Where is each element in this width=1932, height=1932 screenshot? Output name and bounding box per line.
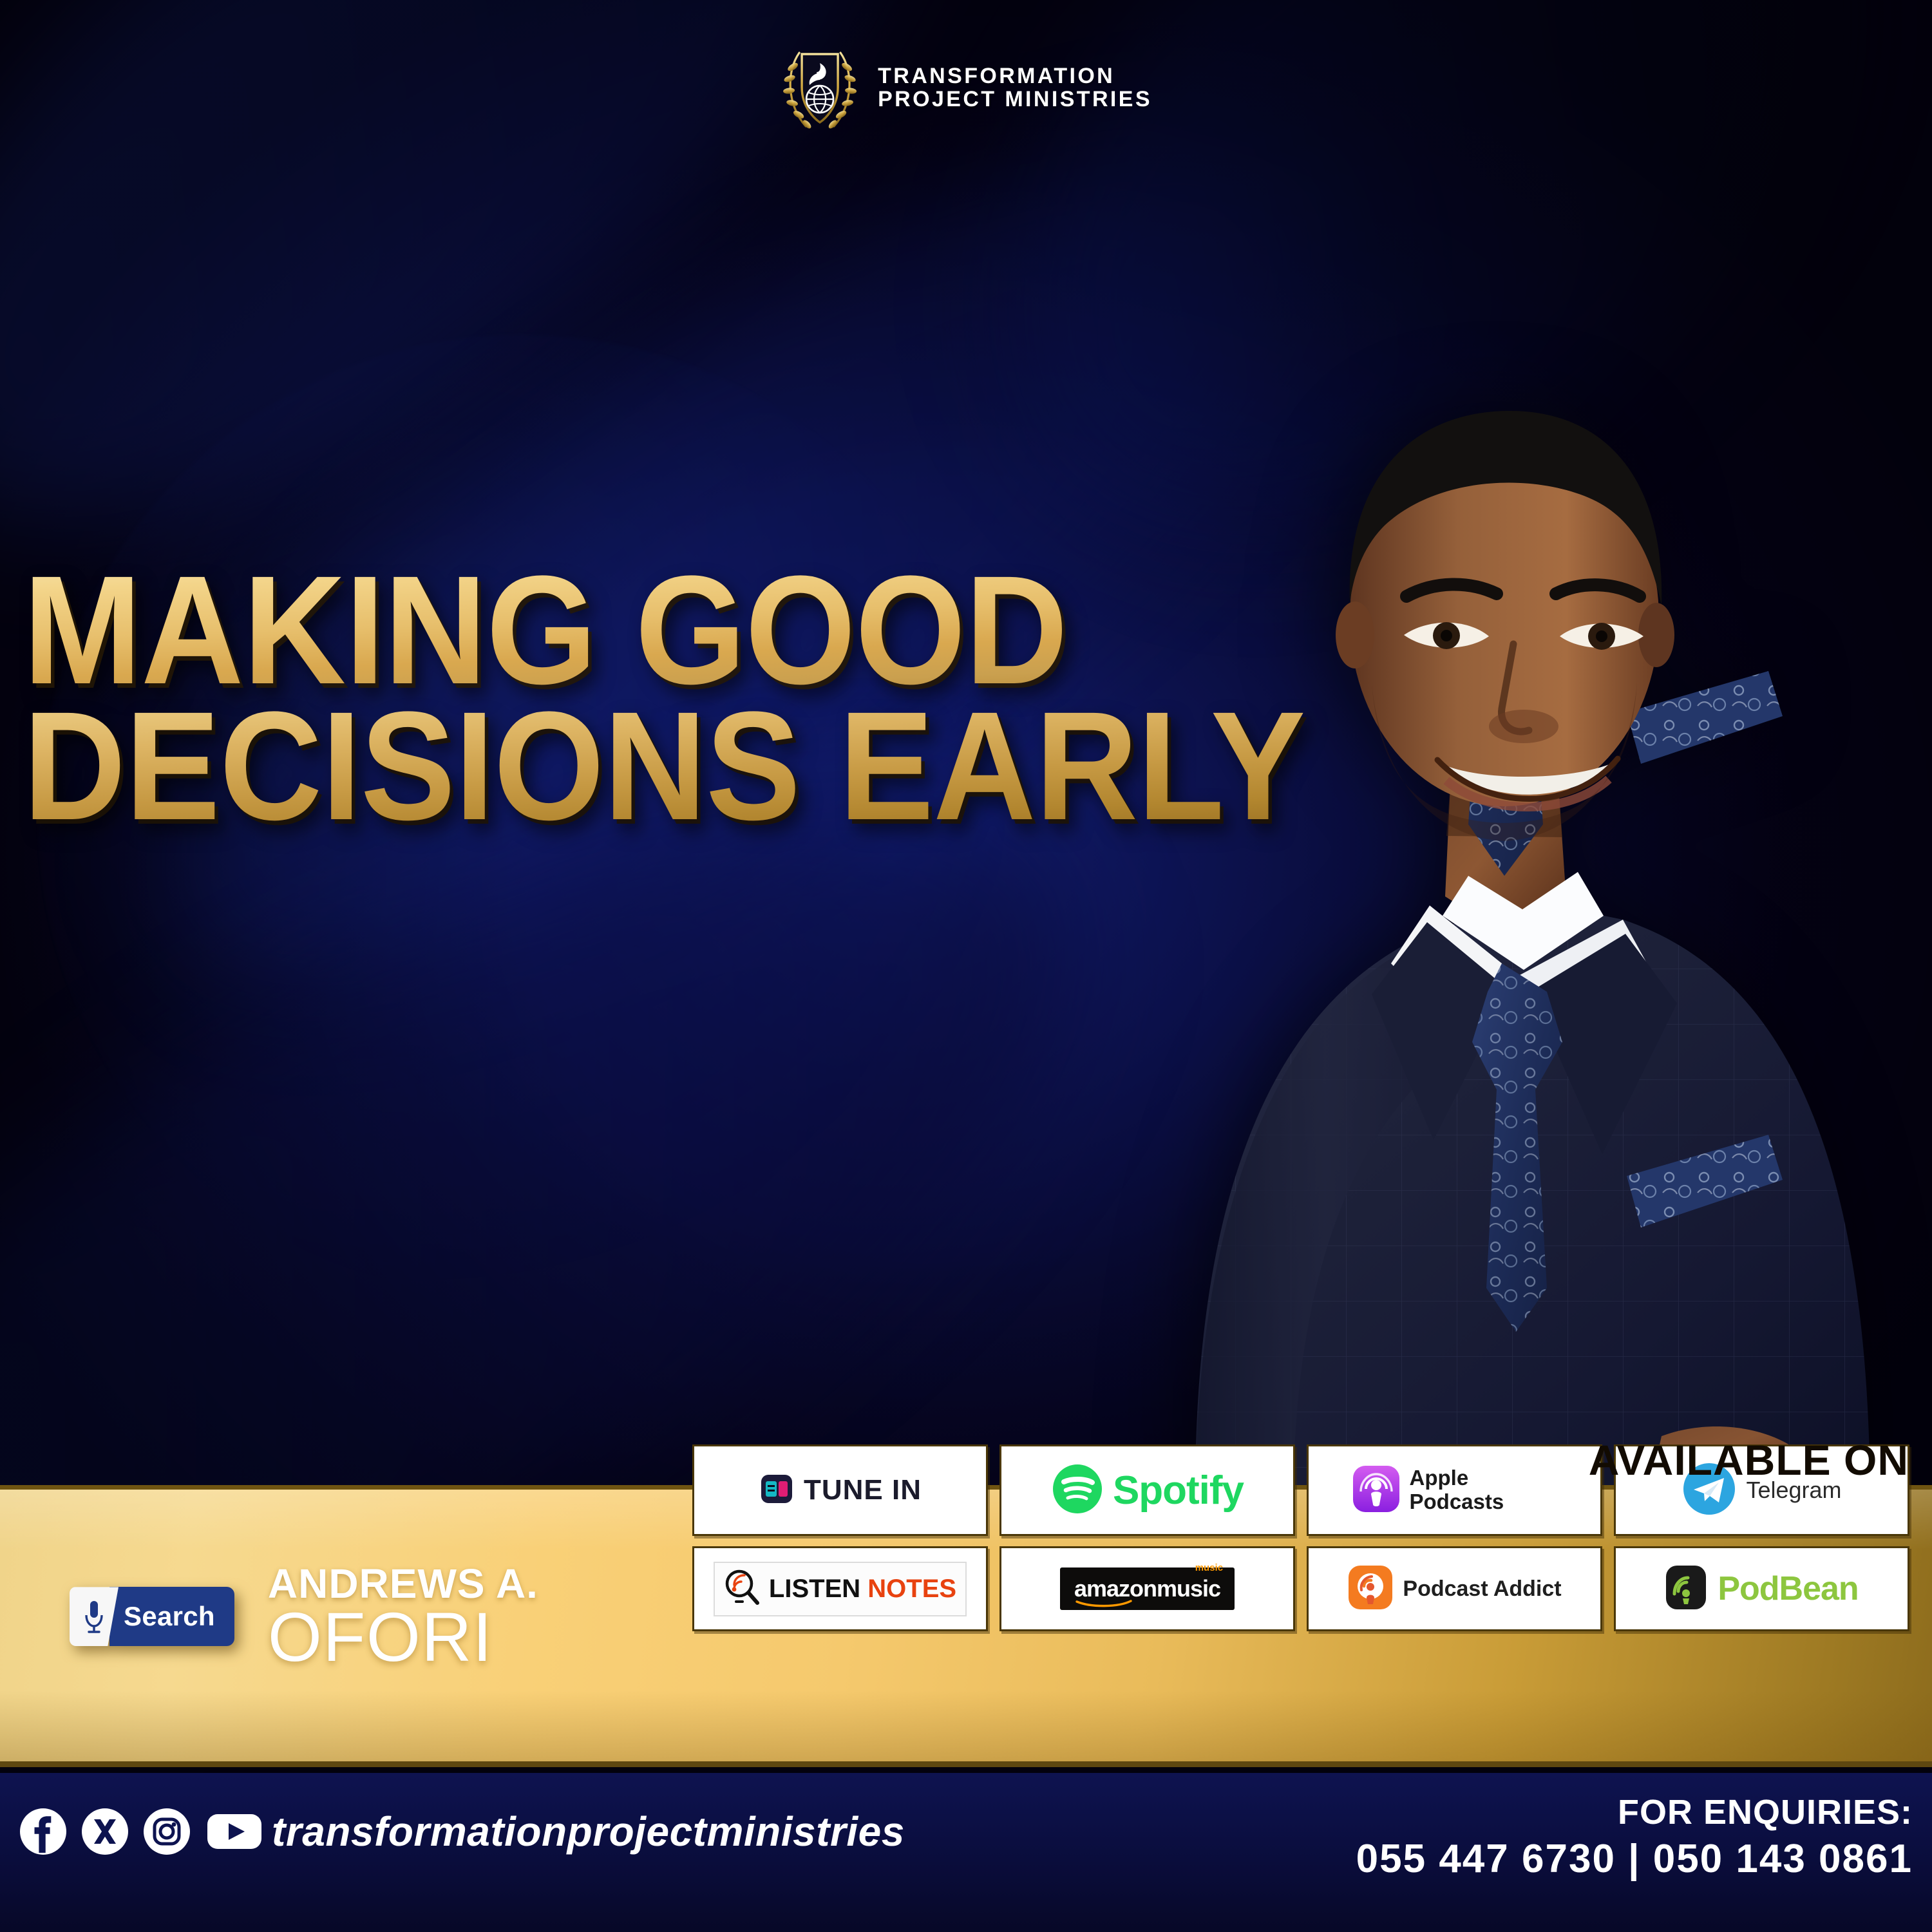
x-twitter-icon[interactable] — [80, 1806, 130, 1857]
platform-tile-podbean[interactable]: PodBean — [1614, 1546, 1909, 1631]
podcast-addict-icon — [1347, 1564, 1394, 1614]
footer-bar: transformationprojectministries FOR ENQU… — [0, 1773, 1932, 1932]
platform-tile-podcast-addict[interactable]: Podcast Addict — [1307, 1546, 1602, 1631]
instagram-icon[interactable] — [142, 1806, 192, 1857]
podcast-promo-poster: TRANSFORMATION PROJECT MINISTRIES MAKING… — [0, 0, 1932, 1932]
brand-line-2: PROJECT MINISTRIES — [878, 88, 1152, 111]
platform-label: Apple Podcasts — [1410, 1466, 1558, 1514]
enquiries-numbers: 055 447 6730 | 050 143 0861 — [1356, 1836, 1913, 1882]
tunein-icon — [759, 1471, 795, 1510]
title-line-1: MAKING GOOD — [23, 567, 1305, 694]
youtube-icon[interactable] — [204, 1806, 254, 1857]
brand-line-1: TRANSFORMATION — [878, 64, 1152, 88]
platforms-panel: Search ANDREWS A. OFORI AVAILABLE ON — [0, 1485, 1932, 1767]
speaker-first-name: ANDREWS A. — [268, 1566, 538, 1603]
platform-tile-amazon-music[interactable]: music amazonmusic amazon music — [999, 1546, 1295, 1631]
platform-label: Spotify — [1113, 1468, 1244, 1513]
search-badge[interactable]: Search — [70, 1587, 234, 1646]
platform-tile-spotify[interactable]: Spotify — [999, 1444, 1295, 1536]
available-on-heading: AVAILABLE ON — [1589, 1435, 1909, 1484]
speaker-name: ANDREWS A. OFORI — [268, 1566, 538, 1668]
enquiries-label: FOR ENQUIRIES: — [1356, 1792, 1913, 1832]
platform-tile-tunein[interactable]: TUNE IN — [692, 1444, 988, 1536]
shield-laurel-dove-globe-crest-icon — [780, 40, 860, 135]
platform-label: Podcast Addict — [1403, 1577, 1561, 1602]
platform-tile-listen-notes[interactable]: LISTEN NOTES LISTEN NOTES — [692, 1546, 988, 1631]
title-line-2: DECISIONS EARLY — [23, 703, 1305, 829]
search-badge-label: Search — [109, 1587, 234, 1646]
spotify-icon — [1051, 1463, 1104, 1519]
footer-social-group: transformationprojectministries — [18, 1806, 905, 1857]
podbean-icon — [1665, 1564, 1709, 1614]
enquiries-block: FOR ENQUIRIES: 055 447 6730 | 050 143 08… — [1356, 1792, 1913, 1882]
brand-logo: TRANSFORMATION PROJECT MINISTRIES — [780, 40, 1152, 135]
apple-podcasts-icon — [1352, 1464, 1401, 1517]
facebook-icon[interactable] — [18, 1806, 68, 1857]
page-title: MAKING GOOD DECISIONS EARLY — [23, 567, 1416, 829]
social-handle: transformationprojectministries — [272, 1808, 905, 1855]
platform-label: PodBean — [1718, 1569, 1858, 1608]
platform-label: TUNE IN — [804, 1474, 922, 1506]
listen-notes-icon — [724, 1568, 760, 1610]
platform-tile-apple-podcasts[interactable]: Apple Podcasts — [1307, 1444, 1602, 1536]
speaker-last-name: OFORI — [268, 1605, 538, 1668]
panel-left-group: Search ANDREWS A. OFORI — [70, 1566, 538, 1668]
